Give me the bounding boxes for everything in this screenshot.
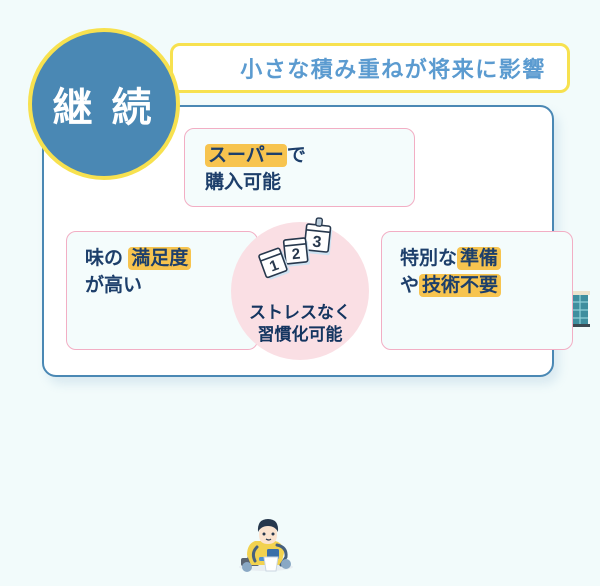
- person-eating-icon: [235, 511, 297, 578]
- card-purchase-line2: 購入可能: [205, 172, 281, 193]
- calendar-pages-icon: 3 2 1: [255, 216, 341, 291]
- header-banner: 小さな積み重ねが将来に影響: [170, 43, 570, 93]
- card-no-prep-line1-prefix: 特別な: [400, 248, 457, 269]
- highlight-super: スーパー: [205, 144, 287, 167]
- svg-text:2: 2: [291, 246, 301, 264]
- card-purchase: スーパーで 購入可能: [184, 128, 415, 207]
- highlight-satisfaction: 満足度: [128, 247, 191, 270]
- badge-circle: 継 続: [28, 28, 180, 180]
- card-purchase-line1-rest: で: [287, 145, 306, 166]
- card-no-prep: 特別な準備 や技術不要: [381, 231, 573, 350]
- header-title: 小さな積み重ねが将来に影響: [194, 52, 546, 84]
- badge-label: 継 続: [52, 75, 155, 133]
- card-no-prep-text: 特別な準備 や技術不要: [400, 245, 501, 299]
- highlight-no-skill: 技術不要: [419, 274, 501, 297]
- card-taste-line2: が高い: [85, 275, 142, 296]
- center-line1: ストレスなく: [249, 303, 351, 322]
- card-taste: 味の 満足度 が高い: [66, 231, 258, 350]
- card-taste-line1-prefix: 味の: [85, 248, 123, 269]
- center-line2: 習慣化可能: [258, 325, 343, 344]
- highlight-preparation: 準備: [457, 247, 501, 270]
- svg-text:3: 3: [312, 234, 323, 252]
- card-no-prep-line2-prefix: や: [400, 275, 419, 296]
- infographic-canvas: 小さな積み重ねが将来に影響 継 続 スーパーで 購入可能: [0, 0, 600, 400]
- center-circle-text: ストレスなく 習慣化可能: [249, 302, 351, 346]
- card-taste-text: 味の 満足度 が高い: [85, 245, 191, 299]
- card-purchase-text: スーパーで 購入可能: [205, 142, 306, 196]
